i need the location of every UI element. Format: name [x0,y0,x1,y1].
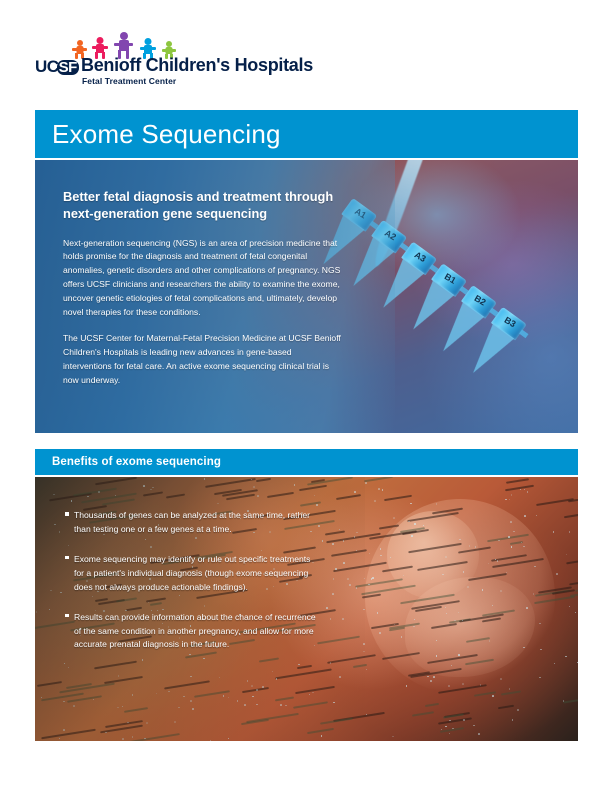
hero-section: A1 A2 A3 B1 B2 B3 [35,160,578,433]
pcr-tube: B2 [473,285,497,303]
hero-paragraph-2: The UCSF Center for Maternal-Fetal Preci… [63,332,341,388]
hero-text-block: Better fetal diagnosis and treatment thr… [63,188,341,400]
ucsf-wordmark: UCSF [35,58,79,75]
benefits-list: Thousands of genes can be analyzed at th… [65,509,320,668]
page-title: Exome Sequencing [35,119,281,150]
list-item-text: Exome sequencing may identify or rule ou… [74,553,320,595]
logo-sub-text: Fetal Treatment Center [82,77,176,86]
page-title-banner: Exome Sequencing [35,110,578,158]
list-item: Results can provide information about th… [65,611,320,653]
pcr-tube: B3 [503,307,527,325]
pcr-tube: B1 [443,263,467,281]
list-item: Thousands of genes can be analyzed at th… [65,509,320,537]
ucsf-sf-badge: SF [57,60,79,75]
pcr-tube: A3 [413,241,437,259]
hero-paragraph-1: Next-generation sequencing (NGS) is an a… [63,237,341,321]
square-bullet-icon [65,611,74,653]
square-bullet-icon [65,509,74,537]
ucsf-uc-text: UC [35,57,59,76]
hero-headline: Better fetal diagnosis and treatment thr… [63,188,341,223]
list-item-text: Thousands of genes can be analyzed at th… [74,509,320,537]
logo-main-text: Benioff Children's Hospitals [81,56,313,74]
brand-logo: UCSF Benioff Children's Hospitals Fetal … [35,32,335,102]
benefits-section: Thousands of genes can be analyzed at th… [35,477,578,741]
square-bullet-icon [65,553,74,595]
benefits-header-banner: Benefits of exome sequencing [35,449,578,475]
benefits-header-title: Benefits of exome sequencing [35,456,221,468]
list-item: Exome sequencing may identify or rule ou… [65,553,320,595]
list-item-text: Results can provide information about th… [74,611,320,653]
